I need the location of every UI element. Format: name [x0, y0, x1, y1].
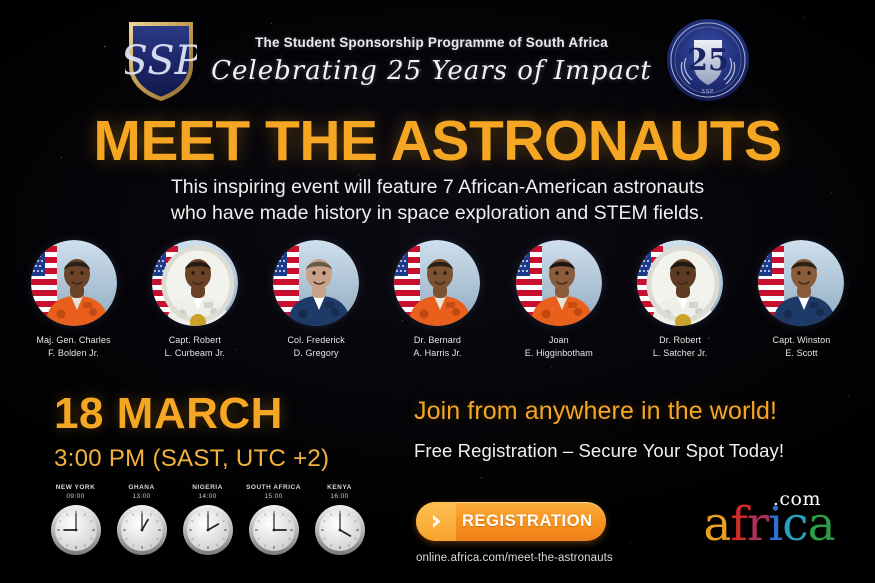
timezone-clock-row: NEW YORK 09:00 [46, 484, 369, 556]
astronaut-name-line-2: F. Bolden Jr. [36, 347, 110, 360]
astronaut-card: Dr. Bernard A. Harris Jr. [386, 240, 489, 359]
chevron-right-icon [416, 502, 456, 541]
astronaut-card: Maj. Gen. Charles F. Bolden Jr. [22, 240, 125, 359]
astronaut-name-line-1: Joan [525, 334, 593, 347]
astronaut-name-line-1: Dr. Robert [653, 334, 707, 347]
timezone-city: GHANA [112, 484, 171, 491]
25-years-badge: 25 SSP [666, 18, 750, 102]
tagline: Celebrating 25 Years of Impact [211, 58, 652, 84]
astronaut-name: Capt. Winston E. Scott [773, 334, 831, 359]
astronaut-card: Capt. Winston E. Scott [750, 240, 853, 359]
astronaut-name: Col. Frederick D. Gregory [287, 334, 344, 359]
timezone-clock: SOUTH AFRICA 15:00 [244, 484, 303, 556]
astronaut-portrait [152, 240, 238, 326]
analog-clock-icon [182, 504, 234, 556]
timezone-time: 16:00 [310, 493, 369, 500]
africa-logo-letter: a [808, 497, 835, 552]
timezone-clock: GHANA 13:00 [112, 484, 171, 556]
analog-clock-icon [314, 504, 366, 556]
astronaut-portrait [31, 240, 117, 326]
event-time: 3:00 PM (SAST, UTC +2) [54, 445, 329, 473]
astronaut-name-line-1: Capt. Winston [773, 334, 831, 347]
astronaut-name-line-2: L. Satcher Jr. [653, 347, 707, 360]
astronaut-name-line-1: Capt. Robert [165, 334, 225, 347]
astronaut-name-line-2: D. Gregory [287, 347, 344, 360]
registration-button[interactable]: REGISTRATION [416, 502, 606, 541]
ssp-shield-logo: SSP [125, 16, 197, 104]
analog-clock-icon [116, 504, 168, 556]
astronaut-list: Maj. Gen. Charles F. Bolden Jr. [22, 240, 853, 359]
timezone-city: NIGERIA [178, 484, 237, 491]
page-subtitle: This inspiring event will feature 7 Afri… [0, 174, 875, 226]
subtitle-line-1: This inspiring event will feature 7 Afri… [0, 174, 875, 200]
astronaut-name: Dr. Bernard A. Harris Jr. [413, 334, 461, 359]
event-poster: SSP The Student Sponsorship Programme of… [0, 0, 875, 583]
svg-text:SSP: SSP [701, 89, 714, 95]
astronaut-name-line-1: Dr. Bernard [413, 334, 461, 347]
timezone-clock: NIGERIA 14:00 [178, 484, 237, 556]
astronaut-name: Dr. Robert L. Satcher Jr. [653, 334, 707, 359]
africa-com-wordmark: africa [681, 501, 857, 548]
timezone-city: SOUTH AFRICA [244, 484, 303, 491]
astronaut-portrait [637, 240, 723, 326]
timezone-clock: KENYA 16:00 [310, 484, 369, 556]
analog-clock-icon [50, 504, 102, 556]
subtitle-line-2: who have made history in space explorati… [0, 200, 875, 226]
event-date-block: 18 MARCH 3:00 PM (SAST, UTC +2) [54, 392, 329, 473]
poster-header: SSP The Student Sponsorship Programme of… [0, 10, 875, 110]
timezone-city: NEW YORK [46, 484, 105, 491]
africa-logo-letter: r [747, 497, 768, 552]
timezone-clock: NEW YORK 09:00 [46, 484, 105, 556]
africa-com-logo[interactable]: .com africa [681, 488, 857, 558]
astronaut-name: Capt. Robert L. Curbeam Jr. [165, 334, 225, 359]
africa-logo-letter: i [768, 497, 782, 552]
cta-headline: Join from anywhere in the world! [414, 398, 844, 426]
svg-text:SSP: SSP [125, 38, 197, 84]
event-date: 18 MARCH [54, 392, 329, 436]
cta-subline: Free Registration – Secure Your Spot Tod… [414, 440, 844, 462]
svg-text:25: 25 [687, 43, 729, 78]
astronaut-name-line-1: Maj. Gen. Charles [36, 334, 110, 347]
astronaut-name: Maj. Gen. Charles F. Bolden Jr. [36, 334, 110, 359]
africa-logo-letter: f [730, 497, 746, 552]
organisation-name: The Student Sponsorship Programme of Sou… [211, 36, 652, 50]
timezone-time: 13:00 [112, 493, 171, 500]
astronaut-name-line-2: A. Harris Jr. [413, 347, 461, 360]
astronaut-portrait [758, 240, 844, 326]
astronaut-card: Capt. Robert L. Curbeam Jr. [143, 240, 246, 359]
astronaut-card: Col. Frederick D. Gregory [265, 240, 368, 359]
astronaut-name-line-2: E. Scott [773, 347, 831, 360]
registration-url[interactable]: online.africa.com/meet-the-astronauts [416, 552, 613, 564]
astronaut-name-line-2: L. Curbeam Jr. [165, 347, 225, 360]
registration-button-label: REGISTRATION [462, 512, 609, 531]
africa-logo-letter: a [703, 497, 730, 552]
astronaut-name: Joan E. Higginbotham [525, 334, 593, 359]
analog-clock-icon [248, 504, 300, 556]
header-text-block: The Student Sponsorship Programme of Sou… [211, 36, 652, 84]
astronaut-name-line-1: Col. Frederick [287, 334, 344, 347]
astronaut-portrait [273, 240, 359, 326]
cta-text-block: Join from anywhere in the world! Free Re… [414, 398, 844, 462]
page-title: MEET THE ASTRONAUTS [0, 108, 875, 174]
astronaut-portrait [394, 240, 480, 326]
astronaut-card: Joan E. Higginbotham [507, 240, 610, 359]
astronaut-card: Dr. Robert L. Satcher Jr. [629, 240, 732, 359]
africa-logo-letter: c [782, 497, 807, 552]
astronaut-name-line-2: E. Higginbotham [525, 347, 593, 360]
timezone-time: 15:00 [244, 493, 303, 500]
timezone-city: KENYA [310, 484, 369, 491]
timezone-time: 14:00 [178, 493, 237, 500]
timezone-time: 09:00 [46, 493, 105, 500]
astronaut-portrait [516, 240, 602, 326]
